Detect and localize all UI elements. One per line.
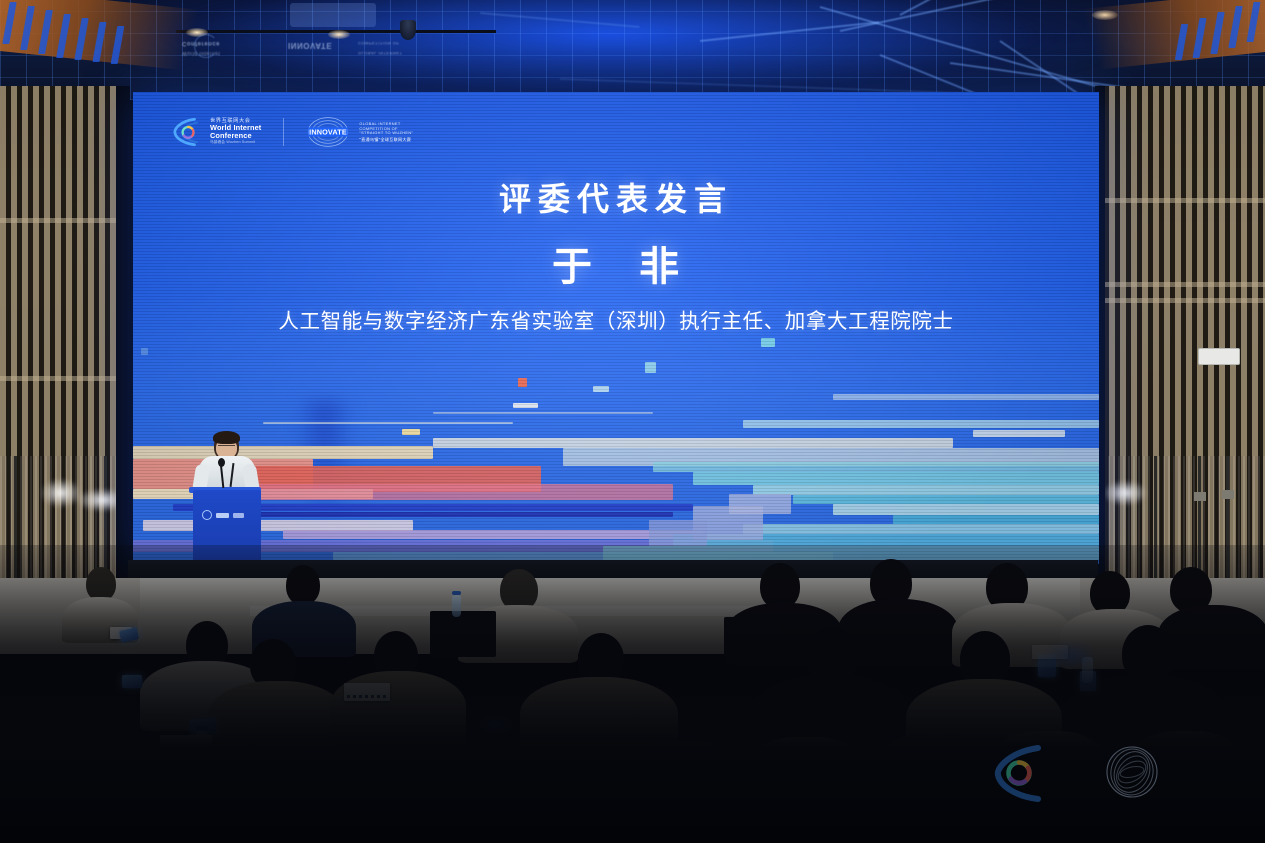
wall-shadow-strip [116,86,130,606]
spiral-rings-logo-icon [1104,744,1160,800]
innovate-rings-icon: INNOVATE [306,115,350,149]
microphone-head [218,458,225,467]
wall-right [1098,86,1265,606]
innovate-logo-text: GLOBAL INTERNET COMPETITION OF "STRAIGHT… [359,122,413,143]
graphic-block [729,494,791,514]
wall-highlight [1102,480,1148,506]
wall-slat-band [0,376,128,381]
graphic-streak [793,495,1099,504]
watermark-spiral-logo [1104,744,1160,800]
graphic-streak [833,504,1099,515]
graphic-streak [893,515,1099,524]
graphic-block [973,430,1065,437]
wic-subtitle: 乌镇峰会 Wuzhen Summit [210,141,261,145]
podium-logo-text-block [233,513,244,518]
graphic-streak [433,438,953,448]
graphic-chip [593,386,609,392]
graphic-streak [283,530,703,539]
audience-darkening-overlay [0,545,1265,843]
podium-logo-text-block [216,513,229,518]
graphic-chip [761,338,775,347]
screen-speaker-role: 人工智能与数字经济广东省实验室（深圳）执行主任、加拿大工程院院士 [133,304,1099,334]
screen-speaker-name: 于非 [133,234,1099,292]
reflection-text: COMPETITION OF [358,41,399,46]
wall-slat-band [1098,298,1265,303]
wall-bracket [1222,490,1234,499]
screen-title: 评委代表发言 [133,174,1099,220]
innovate-logo: INNOVATE GLOBAL INTERNET COMPETITION OF … [306,115,413,149]
graphic-streak [653,462,1099,472]
graphic-chip [518,378,527,387]
conference-photo: World Internet Conference INNOVATE GLOBA… [0,0,1265,843]
logo-divider [283,118,284,146]
graphic-chip [402,429,420,435]
graphic-block [649,520,707,546]
screen-graphic [133,334,1099,564]
podium-wic-mark-icon [202,510,212,520]
wic-swoosh-icon [169,115,203,149]
speaker-surname: 于 [552,245,593,289]
svg-text:INNOVATE: INNOVATE [310,128,348,137]
graphic-hairline [433,412,653,414]
speaker-glasses [218,445,235,450]
audience [0,545,1265,843]
speaker-givenname: 非 [639,245,680,289]
innovate-line3: "STRAIGHT TO WUZHEN" [359,131,413,136]
graphic-streak [833,394,1099,400]
screen-logo-bar: 世界互联网大会 World Internet Conference 乌镇峰会 W… [169,115,413,149]
wall-bracket [1194,492,1206,501]
speaker-hair [213,431,240,444]
graphic-chip [645,362,656,373]
watermark-wic-logo [986,742,1052,804]
wic-logo-text: 世界互联网大会 World Internet Conference 乌镇峰会 W… [210,119,261,145]
graphic-hairline [263,422,513,424]
graphic-streak [133,446,433,459]
innovate-rings-svg: INNOVATE [306,115,350,149]
graphic-streak [743,420,1099,428]
graphic-chip [141,348,148,355]
wall-slat-band [0,218,128,223]
wall-highlight [40,478,82,508]
podium-logo [202,510,244,520]
reflection-text: INNOVATE [288,41,332,50]
wall-slat-band [1098,282,1265,287]
graphic-streak [743,524,1099,534]
graphic-streak [253,484,673,500]
wall-control-panel [1198,348,1240,365]
ceiling: World Internet Conference INNOVATE GLOBA… [0,0,1265,100]
graphic-streak [193,512,673,517]
led-screen: 世界互联网大会 World Internet Conference 乌镇峰会 W… [133,92,1099,564]
wall-slat-band [1098,198,1265,203]
graphic-streak [693,472,1099,485]
innovate-line4: "直通乌镇"全球互联网大赛 [359,137,413,142]
wic-swoosh-svg [169,115,203,149]
graphic-chip [513,403,538,408]
reflection-text: GLOBAL INTERNET [358,51,402,56]
wic-logo: 世界互联网大会 World Internet Conference 乌镇峰会 W… [169,115,261,149]
wic-circle-logo-icon [986,742,1052,804]
graphic-streak [753,485,1099,495]
wall-left [0,86,128,606]
